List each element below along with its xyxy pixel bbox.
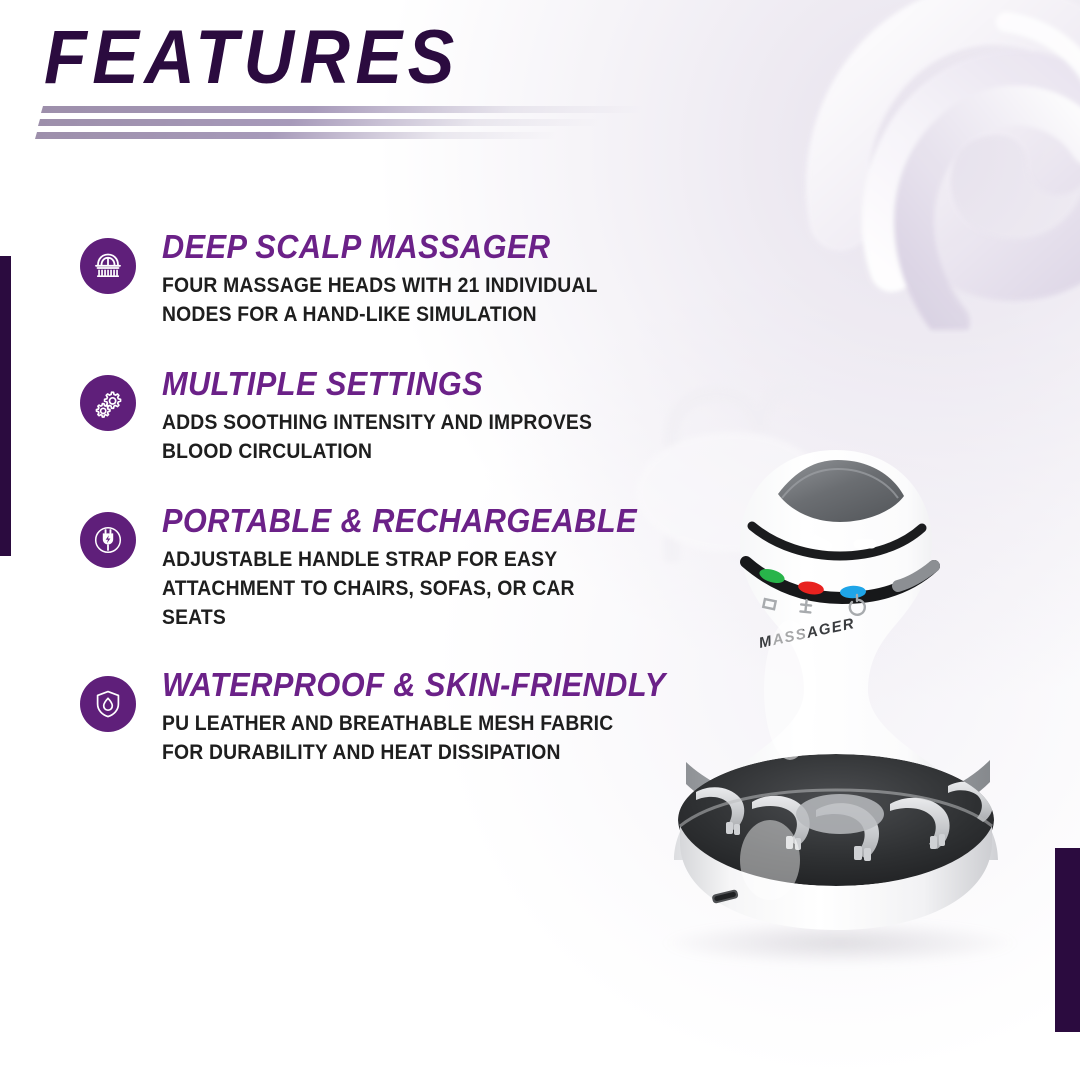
feature-item-deep-scalp-massager: DEEP SCALP MASSAGER FOUR MASSAGE HEADS W… bbox=[80, 228, 680, 329]
massager-head-icon bbox=[80, 238, 136, 294]
feature-title: DEEP SCALP MASSAGER bbox=[162, 228, 612, 266]
page-title: FEATURES bbox=[44, 18, 633, 98]
rule-line-1 bbox=[41, 106, 643, 113]
rule-line-2 bbox=[38, 119, 600, 126]
left-accent-bar bbox=[0, 256, 11, 556]
feature-title: MULTIPLE SETTINGS bbox=[162, 365, 606, 403]
feature-item-multiple-settings: MULTIPLE SETTINGS ADDS SOOTHING INTENSIT… bbox=[80, 365, 680, 466]
feature-title: WATERPROOF & SKIN-FRIENDLY bbox=[162, 666, 666, 704]
shield-droplet-icon bbox=[80, 676, 136, 732]
feature-description: FOUR MASSAGE HEADS WITH 21 INDIVIDUAL NO… bbox=[162, 271, 598, 329]
feature-title: PORTABLE & RECHARGEABLE bbox=[162, 502, 644, 540]
feature-item-waterproof-skin-friendly: WATERPROOF & SKIN-FRIENDLY PU LEATHER AN… bbox=[80, 666, 680, 767]
decorative-ribbon bbox=[800, 0, 1080, 330]
product-image-scalp-massager: MASSAGER bbox=[600, 390, 1070, 970]
gears-icon bbox=[80, 375, 136, 431]
feature-description: PU LEATHER AND BREATHABLE MESH FABRIC FO… bbox=[162, 709, 649, 767]
title-underline-rules bbox=[36, 106, 1036, 140]
feature-description: ADJUSTABLE HANDLE STRAP FOR EASY ATTACHM… bbox=[162, 545, 628, 632]
feature-text-block: MULTIPLE SETTINGS ADDS SOOTHING INTENSIT… bbox=[162, 365, 640, 466]
feature-description: ADDS SOOTHING INTENSITY AND IMPROVES BLO… bbox=[162, 408, 592, 466]
feature-list: DEEP SCALP MASSAGER FOUR MASSAGE HEADS W… bbox=[80, 228, 680, 767]
infographic-canvas: FEATURES bbox=[0, 0, 1080, 1080]
rule-line-3 bbox=[35, 132, 557, 139]
plug-power-icon bbox=[80, 512, 136, 568]
feature-item-portable-rechargeable: PORTABLE & RECHARGEABLE ADJUSTABLE HANDL… bbox=[80, 502, 680, 632]
feature-text-block: DEEP SCALP MASSAGER FOUR MASSAGE HEADS W… bbox=[162, 228, 646, 329]
header: FEATURES bbox=[44, 18, 684, 98]
